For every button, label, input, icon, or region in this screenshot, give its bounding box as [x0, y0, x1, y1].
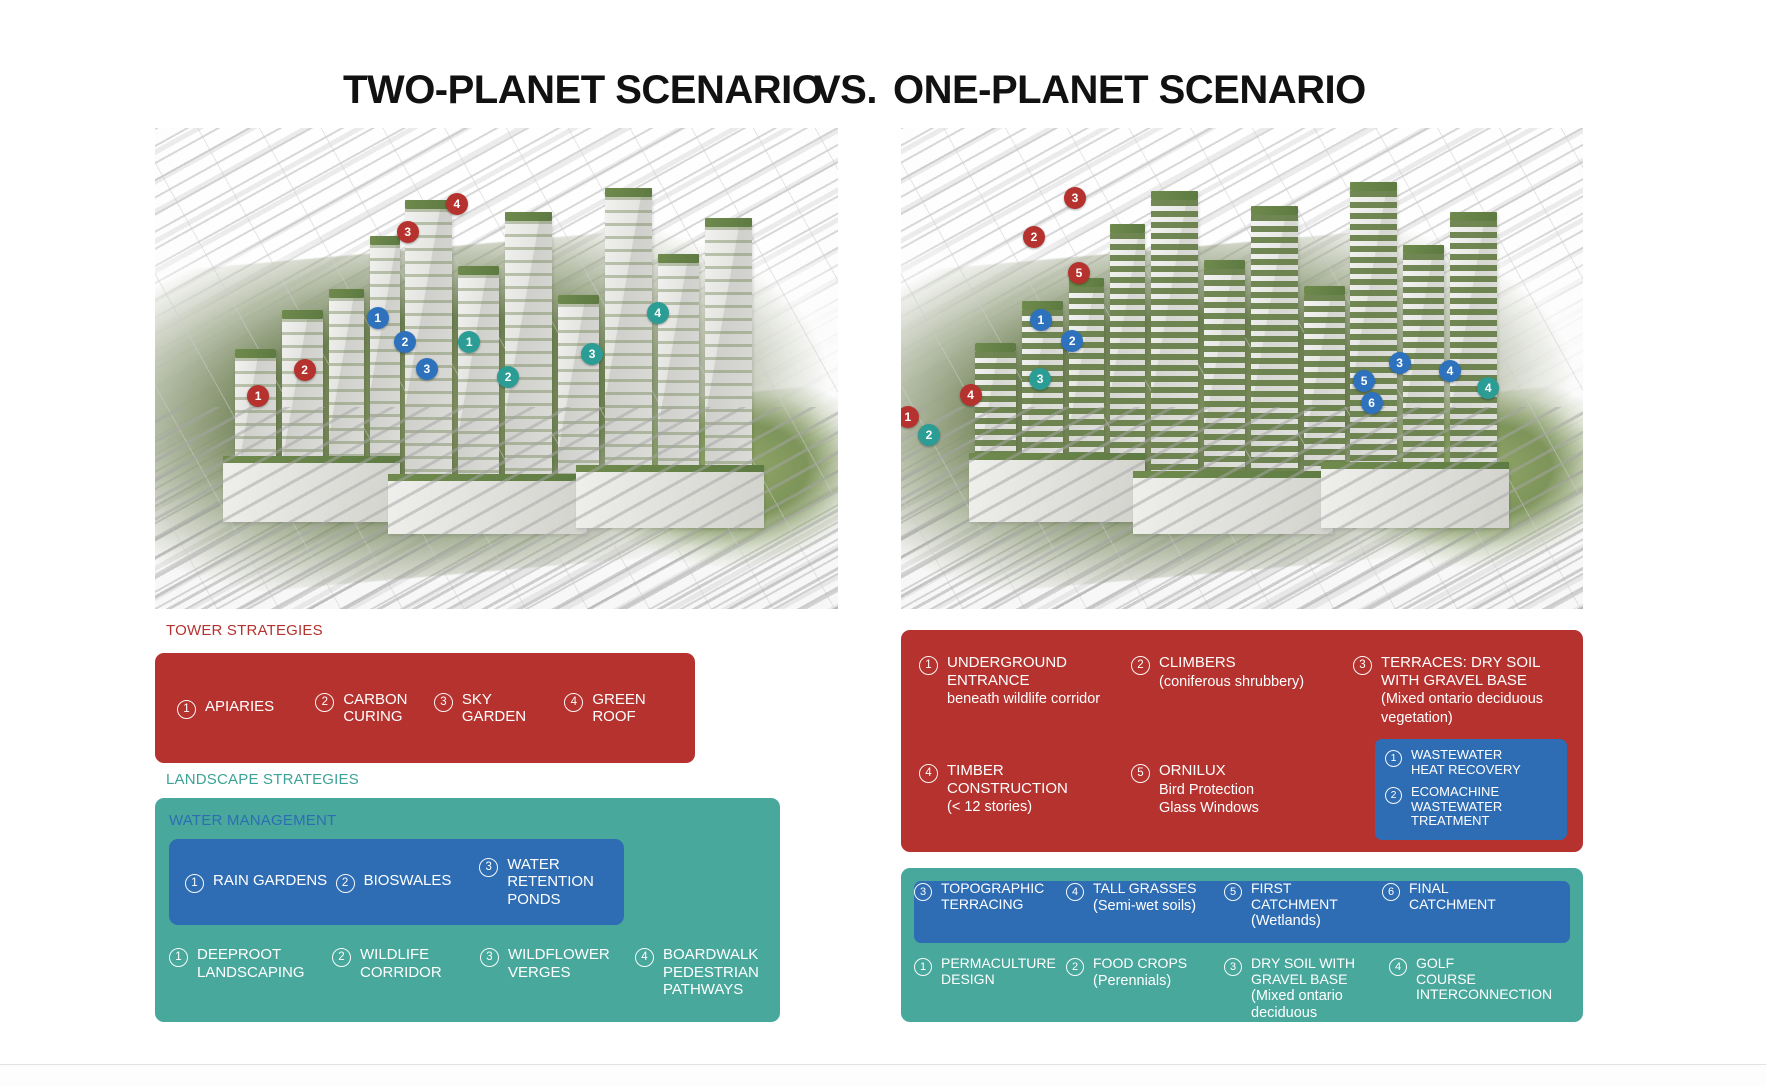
- landscape-strategy-left-item: 3WILDFLOWERVERGES: [480, 946, 635, 999]
- tower-strategy-right-item-sublabel: (Mixed ontario deciduousvegetation): [1381, 691, 1543, 726]
- map-marker-red-5[interactable]: 5: [1068, 262, 1090, 284]
- water-management-right-item-label: WASTEWATERHEAT RECOVERY: [1411, 748, 1521, 777]
- landscape-blue-right-item-label: FINALCATCHMENT: [1409, 881, 1496, 912]
- tower-strategy-right-item-label: TIMBERCONSTRUCTION(< 12 stories): [947, 762, 1068, 817]
- tower-strategy-right-item-sublabel: (coniferous shrubbery): [1159, 674, 1304, 690]
- map-marker-blue-1[interactable]: 1: [1030, 309, 1052, 331]
- tower-strategy-right-item-number: 3: [1353, 656, 1372, 675]
- map-marker-blue-1[interactable]: 1: [367, 307, 389, 329]
- landscape-green-right-item-label: FOOD CROPS(Perennials): [1093, 956, 1187, 989]
- landscape-blue-right-item: 3TOPOGRAPHICTERRACING: [914, 881, 1066, 943]
- landscape-green-right-item-number: 1: [914, 958, 932, 976]
- landscape-strategy-left-item-number: 4: [635, 948, 654, 967]
- map-marker-red-2[interactable]: 2: [294, 359, 316, 381]
- tower-strategies-row2-right: 4TIMBERCONSTRUCTION(< 12 stories)5ORNILU…: [919, 762, 1353, 818]
- render-suburban-fabric-foreground: [155, 407, 838, 609]
- render-two-planet[interactable]: 43123123421: [155, 128, 838, 609]
- tower-strategy-left-item: 2CARBONCURING: [315, 691, 434, 726]
- tower-strategy-right-item: 5ORNILUXBird ProtectionGlass Windows: [1131, 762, 1353, 818]
- tower-strategy-left-item-label: SKYGARDEN: [462, 691, 526, 726]
- water-management-panel-left: 1RAIN GARDENS2BIOSWALES3WATERRETENTIONPO…: [169, 839, 624, 925]
- landscape-strategies-panel-left: WATER MANAGEMENT 1RAIN GARDENS2BIOSWALES…: [155, 798, 780, 1022]
- landscape-strategy-left-item-number: 3: [480, 948, 499, 967]
- landscape-blue-right-item-label: TALL GRASSES(Semi-wet soils): [1093, 881, 1196, 914]
- map-marker-teal-3[interactable]: 3: [581, 343, 603, 365]
- landscape-strategy-left-item-label: WILDFLOWERVERGES: [508, 946, 610, 981]
- landscape-green-right-item-sublabel: (Perennials): [1093, 973, 1171, 989]
- map-marker-blue-2[interactable]: 2: [394, 331, 416, 353]
- landscape-strategy-left-item: 1DEEPROOTLANDSCAPING: [169, 946, 332, 999]
- tower-strategy-left-item-label: GREENROOF: [592, 691, 645, 726]
- tower-strategy-right-item-number: 5: [1131, 764, 1150, 783]
- map-marker-red-3[interactable]: 3: [397, 221, 419, 243]
- tower-strategies-row1-right: 1UNDERGROUNDENTRANCEbeneath wildlife cor…: [919, 654, 1565, 727]
- tower-strategy-right-item-sublabel: (< 12 stories): [947, 799, 1032, 815]
- tower-strategy-right-item-number: 4: [919, 764, 938, 783]
- tower-strategy-right-item: 2CLIMBERS(coniferous shrubbery): [1131, 654, 1353, 727]
- water-management-left-item: 1RAIN GARDENS: [185, 872, 336, 893]
- tower-strategies-panel-left: 1APIARIES2CARBONCURING3SKYGARDEN4GREENRO…: [155, 653, 695, 763]
- tower-strategy-left-item-number: 1: [177, 700, 196, 719]
- water-management-left-item-number: 2: [336, 874, 355, 893]
- water-management-left-item-label: WATERRETENTIONPONDS: [507, 856, 594, 909]
- map-marker-blue-4[interactable]: 4: [1439, 360, 1461, 382]
- tower-strategy-left-item-number: 4: [564, 693, 583, 712]
- tower-strategies-items-left: 1APIARIES2CARBONCURING3SKYGARDEN4GREENRO…: [155, 653, 695, 763]
- water-management-left-item: 3WATERRETENTIONPONDS: [479, 856, 608, 909]
- landscape-green-right-item-label: PERMACULTUREDESIGN: [941, 956, 1056, 987]
- water-management-right-item-number: 1: [1385, 750, 1402, 767]
- landscape-blue-right-item: 4TALL GRASSES(Semi-wet soils): [1066, 881, 1224, 943]
- render-one-planet[interactable]: 325123411234564: [901, 128, 1583, 609]
- tower-strategies-panel-right: 1UNDERGROUNDENTRANCEbeneath wildlife cor…: [901, 630, 1583, 852]
- landscape-blue-right-item-label: TOPOGRAPHICTERRACING: [941, 881, 1044, 912]
- tower-strategy-right-item-label: UNDERGROUNDENTRANCEbeneath wildlife corr…: [947, 654, 1100, 709]
- landscape-strategies-label-left: LANDSCAPE STRATEGIES: [166, 771, 359, 788]
- tower-strategy-right-item: 4TIMBERCONSTRUCTION(< 12 stories): [919, 762, 1131, 818]
- water-management-right-item: 1WASTEWATERHEAT RECOVERY: [1385, 748, 1557, 777]
- tower-strategy-right-item-label: ORNILUXBird ProtectionGlass Windows: [1159, 762, 1259, 818]
- water-management-left-item-label: RAIN GARDENS: [213, 872, 327, 890]
- landscape-strategy-left-item: 2WILDLIFECORRIDOR: [332, 946, 480, 999]
- map-marker-red-3[interactable]: 3: [1064, 187, 1086, 209]
- landscape-blue-right-item-sublabel: (Semi-wet soils): [1093, 898, 1196, 914]
- landscape-green-right-item: 3DRY SOIL WITHGRAVEL BASE(Mixed ontariod…: [1224, 956, 1389, 1038]
- page-title: TWO-PLANET SCENARIO VS. ONE-PLANET SCENA…: [0, 68, 1766, 113]
- title-two-planet: TWO-PLANET SCENARIO: [343, 68, 798, 113]
- tower-strategy-right-item-sublabel: Bird ProtectionGlass Windows: [1159, 782, 1259, 817]
- tower-strategy-right-item-number: 2: [1131, 656, 1150, 675]
- map-marker-teal-4[interactable]: 4: [647, 302, 669, 324]
- map-marker-blue-3[interactable]: 3: [416, 358, 438, 380]
- tower-strategy-left-item-label: APIARIES: [205, 698, 274, 716]
- page-bottom-edge: [0, 1064, 1766, 1086]
- landscape-blue-right-item-sublabel: (Wetlands): [1251, 913, 1321, 929]
- water-management-left-item-number: 3: [479, 858, 498, 877]
- landscape-strategy-left-item-label: DEEPROOTLANDSCAPING: [197, 946, 305, 981]
- landscape-blue-right-item-number: 5: [1224, 883, 1242, 901]
- tower-strategies-label-left: TOWER STRATEGIES: [166, 622, 323, 639]
- landscape-green-right-item: 1PERMACULTUREDESIGN: [914, 956, 1066, 1038]
- landscape-blue-items-right: 3TOPOGRAPHICTERRACING4TALL GRASSES(Semi-…: [914, 881, 1570, 943]
- landscape-green-right-item-number: 3: [1224, 958, 1242, 976]
- water-management-right-item-number: 2: [1385, 787, 1402, 804]
- landscape-strategy-left-item-number: 2: [332, 948, 351, 967]
- tower-strategy-left-item-label: CARBONCURING: [343, 691, 407, 726]
- landscape-green-items-right: 1PERMACULTUREDESIGN2FOOD CROPS(Perennial…: [914, 956, 1570, 1038]
- landscape-blue-right-item: 6FINALCATCHMENT: [1382, 881, 1522, 943]
- water-management-items-left: 1RAIN GARDENS2BIOSWALES3WATERRETENTIONPO…: [169, 839, 624, 925]
- landscape-strategies-panel-right: 3TOPOGRAPHICTERRACING4TALL GRASSES(Semi-…: [901, 868, 1583, 1022]
- landscape-green-right-item-sublabel: (Mixed ontariodeciduous vegetation): [1251, 988, 1343, 1037]
- tower-strategy-left-item: 3SKYGARDEN: [434, 691, 564, 726]
- map-marker-red-2[interactable]: 2: [1023, 226, 1045, 248]
- render-suburban-fabric-foreground: [901, 407, 1583, 609]
- landscape-blue-right-item-number: 4: [1066, 883, 1084, 901]
- landscape-green-right-item-label: GOLFCOURSEINTERCONNECTION: [1416, 956, 1552, 1003]
- map-marker-teal-1[interactable]: 1: [458, 331, 480, 353]
- water-management-right-item-label: ECOMACHINEWASTEWATERTREATMENT: [1411, 785, 1502, 829]
- map-marker-blue-3[interactable]: 3: [1389, 352, 1411, 374]
- landscape-strategy-left-item-number: 1: [169, 948, 188, 967]
- map-marker-teal-2[interactable]: 2: [918, 424, 940, 446]
- water-management-panel-right: 1WASTEWATERHEAT RECOVERY2ECOMACHINEWASTE…: [1375, 739, 1567, 840]
- landscape-green-right-item-label: DRY SOIL WITHGRAVEL BASE(Mixed ontariode…: [1251, 956, 1389, 1038]
- landscape-blue-right-item-label: FIRSTCATCHMENT(Wetlands): [1251, 881, 1338, 930]
- landscape-green-right-item-number: 4: [1389, 958, 1407, 976]
- map-marker-teal-2[interactable]: 2: [497, 366, 519, 388]
- map-marker-teal-3[interactable]: 3: [1029, 368, 1051, 390]
- tower-strategy-left-item-number: 2: [315, 693, 334, 712]
- tower-strategy-left-item: 4GREENROOF: [564, 691, 673, 726]
- landscape-green-right-item: 2FOOD CROPS(Perennials): [1066, 956, 1224, 1038]
- tower-strategy-right-item-label: TERRACES: DRY SOILWITH GRAVEL BASE(Mixed…: [1381, 654, 1543, 727]
- landscape-blue-right-item-number: 6: [1382, 883, 1400, 901]
- landscape-blue-right-item: 5FIRSTCATCHMENT(Wetlands): [1224, 881, 1382, 943]
- landscape-items-left: 1DEEPROOTLANDSCAPING2WILDLIFECORRIDOR3WI…: [169, 946, 766, 999]
- water-management-left-item-number: 1: [185, 874, 204, 893]
- water-management-left-item-label: BIOSWALES: [364, 872, 452, 890]
- tower-strategy-right-item-sublabel: beneath wildlife corridor: [947, 691, 1100, 707]
- landscape-blue-right-item-number: 3: [914, 883, 932, 901]
- map-marker-blue-6[interactable]: 6: [1361, 392, 1383, 414]
- map-marker-red-4[interactable]: 4: [960, 384, 982, 406]
- tower-strategy-right-item: 3TERRACES: DRY SOILWITH GRAVEL BASE(Mixe…: [1353, 654, 1553, 727]
- map-marker-teal-4[interactable]: 4: [1477, 377, 1499, 399]
- title-one-planet: ONE-PLANET SCENARIO: [893, 68, 1423, 113]
- water-management-label-left: WATER MANAGEMENT: [169, 812, 336, 829]
- landscape-green-right-item-number: 2: [1066, 958, 1084, 976]
- tower-strategy-right-item-number: 1: [919, 656, 938, 675]
- map-marker-blue-5[interactable]: 5: [1353, 370, 1375, 392]
- water-management-left-item: 2BIOSWALES: [336, 872, 480, 893]
- tower-strategy-left-item-number: 3: [434, 693, 453, 712]
- map-marker-red-4[interactable]: 4: [446, 193, 468, 215]
- scenario-comparison-page: TWO-PLANET SCENARIO VS. ONE-PLANET SCENA…: [0, 0, 1766, 1086]
- water-management-right-item: 2ECOMACHINEWASTEWATERTREATMENT: [1385, 785, 1557, 829]
- tower-strategy-left-item: 1APIARIES: [177, 698, 315, 719]
- tower-strategy-right-item: 1UNDERGROUNDENTRANCEbeneath wildlife cor…: [919, 654, 1131, 727]
- landscape-strategy-left-item-label: BOARDWALKPEDESTRIANPATHWAYS: [663, 946, 759, 999]
- title-vs: VS.: [798, 68, 893, 113]
- tower-strategy-right-item-label: CLIMBERS(coniferous shrubbery): [1159, 654, 1304, 691]
- map-marker-red-1[interactable]: 1: [247, 385, 269, 407]
- map-marker-blue-2[interactable]: 2: [1061, 330, 1083, 352]
- landscape-strategy-left-item: 4BOARDWALKPEDESTRIANPATHWAYS: [635, 946, 765, 999]
- landscape-green-right-item: 4GOLFCOURSEINTERCONNECTION: [1389, 956, 1539, 1038]
- landscape-strategy-left-item-label: WILDLIFECORRIDOR: [360, 946, 442, 981]
